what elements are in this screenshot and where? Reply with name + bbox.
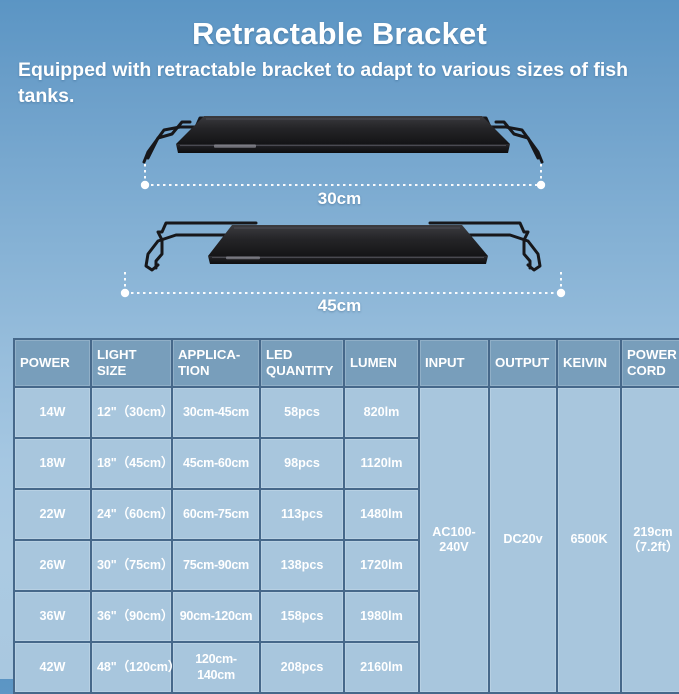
specification-table: POWER LIGHT SIZE APPLICA-TION LED QUANTI… [13,338,679,694]
cell-power: 36W [15,592,90,641]
product-figure-retracted [118,100,568,200]
cell-application: 30cm-45cm [173,388,259,437]
cell-led-quantity: 158pcs [261,592,343,641]
hero-section: Retractable Bracket Equipped with retrac… [0,0,679,109]
column-header-led-quantity: LED QUANTITY [261,340,343,386]
cell-kelvin: 6500K [558,388,620,692]
column-header-kelvin: KEIVIN [558,340,620,386]
cell-light-size: 18"（45cm） [92,439,171,488]
specification-table-container: POWER LIGHT SIZE APPLICA-TION LED QUANTI… [13,338,666,694]
dimension-label-30cm: 30cm [0,189,679,209]
column-header-output: OUTPUT [490,340,556,386]
cell-power: 22W [15,490,90,539]
column-header-power-cord: POWER CORD [622,340,679,386]
column-header-lumen: LUMEN [345,340,418,386]
page-title: Retractable Bracket [0,16,679,52]
column-header-light-size: LIGHT SIZE [92,340,171,386]
cell-led-quantity: 58pcs [261,388,343,437]
cell-lumen: 2160lm [345,643,418,692]
cell-led-quantity: 208pcs [261,643,343,692]
column-header-application: APPLICA-TION [173,340,259,386]
cell-power: 18W [15,439,90,488]
cell-lumen: 1120lm [345,439,418,488]
cell-lumen: 1980lm [345,592,418,641]
cell-lumen: 1720lm [345,541,418,590]
brand-logo [226,257,260,260]
table-header-row: POWER LIGHT SIZE APPLICA-TION LED QUANTI… [15,340,679,386]
cell-lumen: 1480lm [345,490,418,539]
cell-application: 75cm-90cm [173,541,259,590]
cell-light-size: 12"（30cm） [92,388,171,437]
cell-power-cord: 219cm （7.2ft） [622,388,679,692]
brand-logo [214,145,256,148]
cell-led-quantity: 113pcs [261,490,343,539]
dimension-line-45cm [121,272,565,297]
column-header-power: POWER [15,340,90,386]
table-row: 14W 12"（30cm） 30cm-45cm 58pcs 820lm AC10… [15,388,679,437]
cell-power: 42W [15,643,90,692]
cell-output: DC20v [490,388,556,692]
cell-application: 90cm-120cm [173,592,259,641]
light-bar-top-face [176,116,510,144]
light-bar-retracted-illustration [118,100,568,200]
cell-input: AC100-240V [420,388,488,692]
cell-application: 45cm-60cm [173,439,259,488]
light-bar-top-face [208,225,488,256]
column-header-input: INPUT [420,340,488,386]
cell-application: 120cm-140cm [173,643,259,692]
cell-light-size: 24"（60cm） [92,490,171,539]
cell-power: 14W [15,388,90,437]
cell-led-quantity: 138pcs [261,541,343,590]
dimension-label-45cm: 45cm [0,296,679,316]
cell-lumen: 820lm [345,388,418,437]
cell-light-size: 30"（75cm） [92,541,171,590]
cell-led-quantity: 98pcs [261,439,343,488]
dimension-line-30cm [141,164,545,189]
cell-light-size: 48"（120cm） [92,643,171,692]
cell-light-size: 36"（90cm） [92,592,171,641]
cell-application: 60cm-75cm [173,490,259,539]
cell-power: 26W [15,541,90,590]
